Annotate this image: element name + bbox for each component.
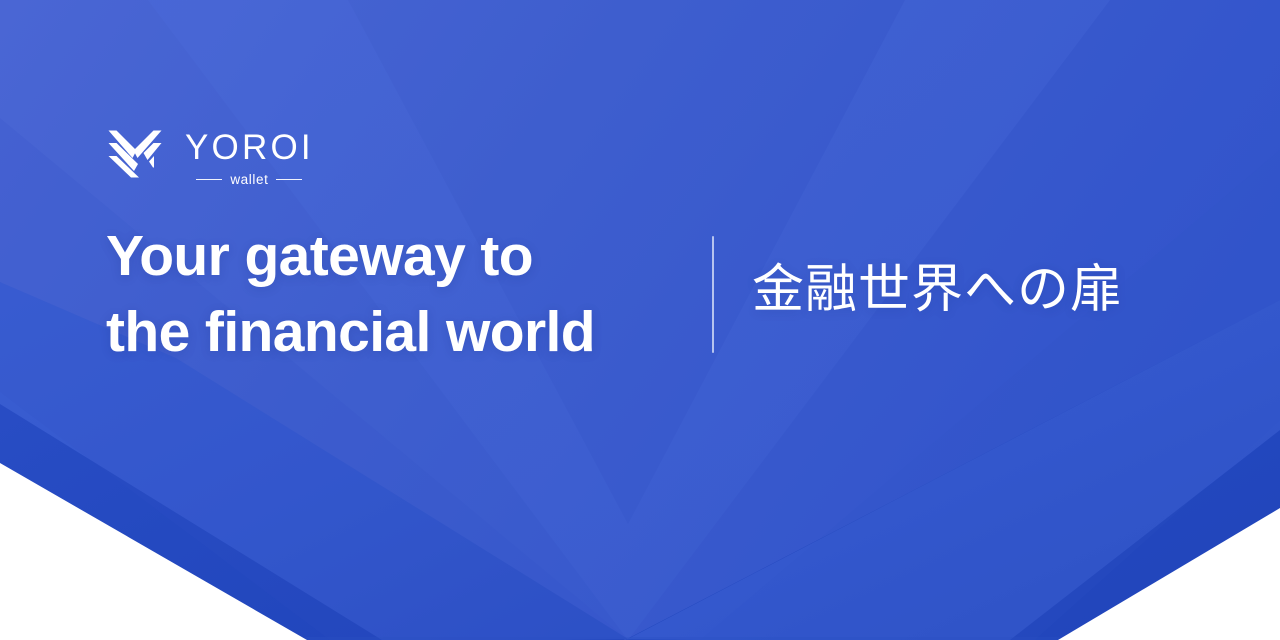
- vertical-divider: [712, 236, 714, 353]
- brand-subtitle-row: wallet: [185, 173, 314, 187]
- subtitle-rule-right: [276, 179, 302, 180]
- brand-subtitle: wallet: [230, 173, 268, 187]
- headline: Your gateway to the financial world: [106, 218, 706, 370]
- headline-line-1: Your gateway to: [106, 218, 706, 294]
- subtitle-rule-left: [196, 179, 222, 180]
- headline-line-2: the financial world: [106, 294, 706, 370]
- brand-wordmark-group: YOROI wallet: [185, 128, 314, 187]
- yoroi-promo-banner: YOROI wallet Your gateway to the financi…: [0, 0, 1280, 640]
- yoroi-chevron-mark-icon: [107, 128, 163, 180]
- banner-content: YOROI wallet Your gateway to the financi…: [0, 0, 1280, 640]
- brand-logo-lockup[interactable]: YOROI wallet: [107, 128, 314, 187]
- tagline-japanese: 金融世界への扉: [752, 258, 1123, 322]
- brand-wordmark: YOROI: [185, 130, 314, 165]
